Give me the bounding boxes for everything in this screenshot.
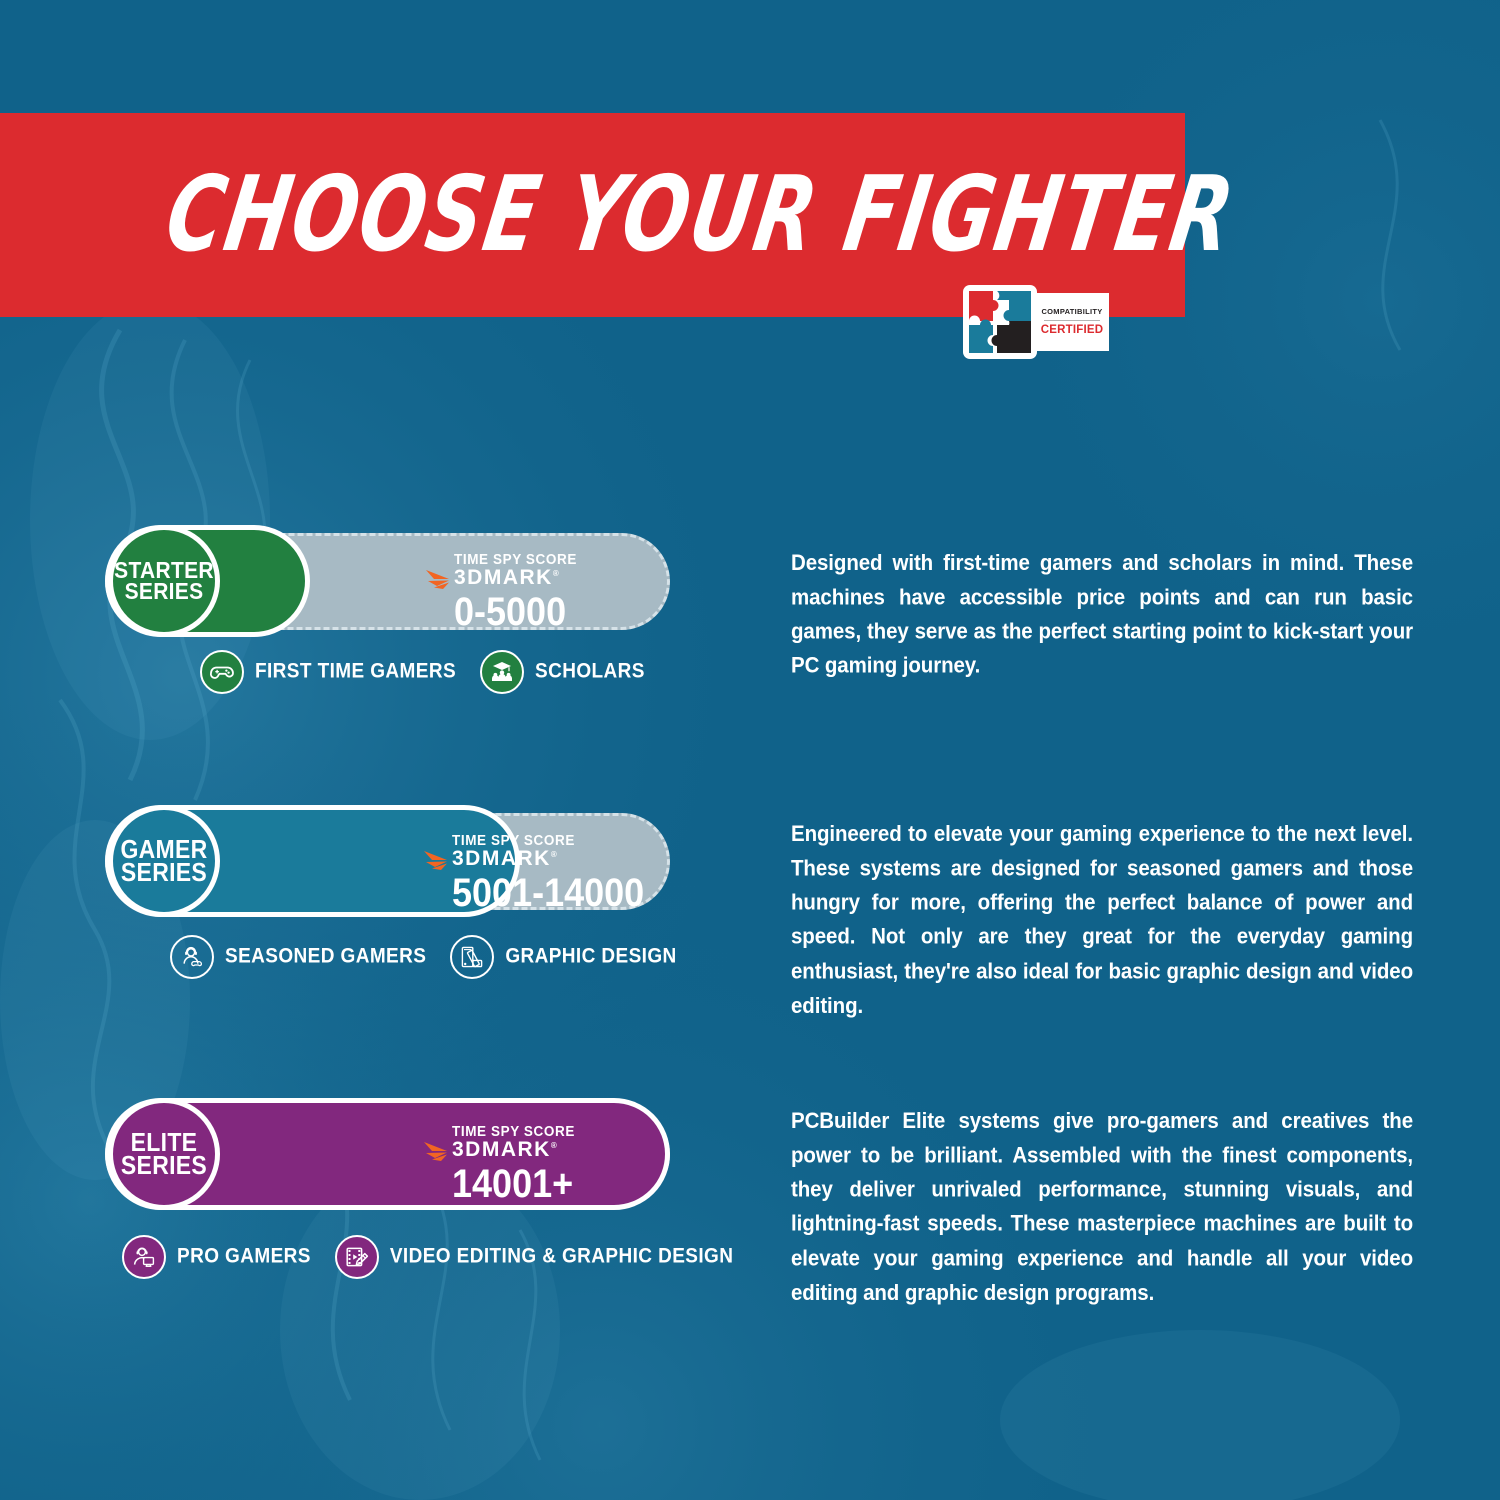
compatibility-text: COMPATIBILITY (1041, 308, 1102, 316)
description-gamer: Engineered to elevate your gaming experi… (791, 817, 1413, 1004)
headset-gamer-icon (170, 935, 214, 979)
series-badge-line2: SERIES (125, 580, 204, 604)
film-pencil-icon (335, 1235, 379, 1279)
series-badge-elite[interactable]: ELITE SERIES (108, 1098, 220, 1210)
description-text: PCBuilder Elite systems give pro-gamers … (791, 1104, 1413, 1310)
description-starter: Designed with first-time gamers and scho… (791, 546, 1413, 671)
chip-label: PRO GAMERS (177, 1245, 311, 1270)
audience-chips-elite: PRO GAMERS VIDEO EDITING (122, 1235, 757, 1279)
score-bar-starter: STARTER SERIES TIME SPY SCORE 3DMARK® 0-… (105, 525, 670, 637)
description-text: Engineered to elevate your gaming experi… (791, 817, 1413, 1023)
chip-label: GRAPHIC DESIGN (505, 945, 676, 970)
chip-seasoned-gamers[interactable]: SEASONED GAMERS (170, 935, 426, 979)
description-elite: PCBuilder Elite systems give pro-gamers … (791, 1104, 1413, 1291)
chip-label: VIDEO EDITING & GRAPHIC DESIGN (390, 1245, 733, 1270)
chip-graphic-design[interactable]: GRAPHIC DESIGN (450, 935, 676, 979)
chip-video-editing-graphic-design[interactable]: VIDEO EDITING & GRAPHIC DESIGN (335, 1235, 733, 1279)
divider (1044, 320, 1100, 321)
certified-text: CERTIFIED (1041, 324, 1104, 336)
headset-monitor-icon (122, 1235, 166, 1279)
description-text: Designed with first-time gamers and scho… (791, 546, 1413, 683)
chip-first-time-gamers[interactable]: FIRST TIME GAMERS (200, 650, 456, 694)
gamepad-icon (200, 650, 244, 694)
color-swatch-icon (450, 935, 494, 979)
header-banner: CHOOSE YOUR FIGHTER COMPATIBILITY CERTIF… (0, 113, 1185, 317)
audience-chips-starter: FIRST TIME GAMERS SCHOLARS (200, 650, 669, 694)
score-bar-elite: ELITE SERIES TIME SPY SCORE 3DMARK® 1400… (105, 1098, 670, 1210)
chip-label: SEASONED GAMERS (225, 945, 426, 970)
chip-label: SCHOLARS (535, 660, 645, 685)
chip-scholars[interactable]: SCHOLARS (480, 650, 645, 694)
puzzle-icon (963, 285, 1037, 359)
series-badge-gamer[interactable]: GAMER SERIES (108, 805, 220, 917)
audience-chips-gamer: SEASONED GAMERS GRAPHIC DESIGN (170, 935, 701, 979)
page-title: CHOOSE YOUR FIGHTER (160, 163, 1242, 267)
series-badge-line2: SERIES (121, 860, 207, 886)
chip-label: FIRST TIME GAMERS (255, 660, 456, 685)
series-badge-line2: SERIES (121, 1153, 207, 1179)
compatibility-certified-badge: COMPATIBILITY CERTIFIED (963, 285, 1109, 359)
series-badge-starter[interactable]: STARTER SERIES (108, 525, 220, 637)
chip-pro-gamers[interactable]: PRO GAMERS (122, 1235, 311, 1279)
graduation-people-icon (480, 650, 524, 694)
certified-plate: COMPATIBILITY CERTIFIED (1035, 293, 1109, 351)
score-bar-gamer: GAMER SERIES TIME SPY SCORE 3DMARK® 5001… (105, 805, 670, 917)
